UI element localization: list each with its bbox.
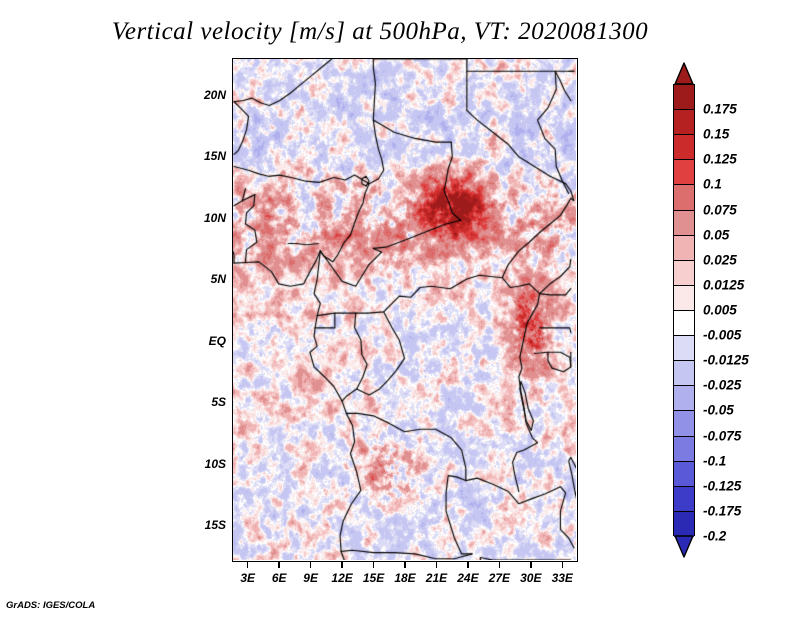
lat-tick-label: 5N	[211, 272, 226, 286]
colorbar-tick-label: 0.125	[703, 152, 737, 167]
colorbar-swatch	[674, 110, 694, 135]
lon-tick	[341, 562, 343, 568]
colorbar-swatch	[674, 336, 694, 361]
lon-tick-label: 15E	[363, 571, 384, 585]
colorbar-tick-label: 0.05	[703, 227, 729, 242]
colorbar-tick-label: -0.0125	[703, 353, 749, 368]
colorbar: 0.1750.150.1250.10.0750.050.0250.01250.0…	[673, 62, 695, 558]
lon-tick	[310, 562, 312, 568]
colorbar-swatch	[674, 462, 694, 487]
lon-tick-label: 27E	[489, 571, 510, 585]
colorbar-swatch	[674, 386, 694, 411]
colorbar-swatch	[674, 135, 694, 160]
lat-tick-label: 15N	[204, 149, 226, 163]
colorbar-tick-label: -0.005	[703, 328, 741, 343]
colorbar-swatch	[674, 85, 694, 110]
lon-tick-label: 21E	[426, 571, 447, 585]
lat-tick-label: 20N	[204, 88, 226, 102]
colorbar-swatch	[674, 437, 694, 462]
lon-tick-label: 24E	[457, 571, 478, 585]
lon-tick-label: 9E	[303, 571, 318, 585]
lon-tick	[278, 562, 280, 568]
grads-plot-page: Vertical velocity [m/s] at 500hPa, VT: 2…	[0, 0, 800, 618]
colorbar-swatch	[674, 236, 694, 261]
colorbar-swatch	[674, 185, 694, 210]
colorbar-tick-label: -0.05	[703, 403, 734, 418]
colorbar-tick-label: -0.1	[703, 453, 726, 468]
lon-tick-label: 3E	[240, 571, 255, 585]
colorbar-tick-label: -0.175	[703, 503, 741, 518]
colorbar-tick-label: 0.025	[703, 252, 737, 267]
longitude-axis: 3E6E9E12E15E18E21E24E27E30E33E	[232, 562, 578, 592]
colorbar-tick-label: -0.025	[703, 378, 741, 393]
latitude-axis: 20N15N10N5NEQ5S10S15S	[180, 58, 226, 562]
lon-tick	[247, 562, 249, 568]
lon-tick	[562, 562, 564, 568]
lat-tick-label: 5S	[211, 395, 226, 409]
colorbar-swatch	[674, 160, 694, 185]
colorbar-tick-label: -0.2	[703, 529, 726, 544]
colorbar-swatch	[674, 411, 694, 436]
lat-tick-label: 15S	[205, 518, 226, 532]
lon-tick	[404, 562, 406, 568]
lon-tick-label: 30E	[520, 571, 541, 585]
lon-tick-label: 33E	[552, 571, 573, 585]
lon-tick-label: 12E	[331, 571, 352, 585]
lat-tick-label: EQ	[209, 334, 226, 348]
map-plot-area	[232, 58, 578, 562]
colorbar-tick-label: 0.15	[703, 127, 729, 142]
colorbar-swatch	[674, 211, 694, 236]
lon-tick	[436, 562, 438, 568]
lon-tick-label: 6E	[272, 571, 287, 585]
lon-tick	[499, 562, 501, 568]
colorbar-tick-label: 0.005	[703, 303, 737, 318]
lon-tick	[530, 562, 532, 568]
colorbar-tick-label: 0.0125	[703, 277, 744, 292]
colorbar-bottom-arrow	[673, 535, 695, 557]
colorbar-swatch	[674, 361, 694, 386]
colorbar-tick-label: -0.125	[703, 478, 741, 493]
footer-credit: GrADS: IGES/COLA	[6, 600, 95, 611]
country-borders-overlay	[233, 59, 576, 560]
colorbar-top-arrow	[673, 62, 695, 84]
colorbar-tick-label: 0.075	[703, 202, 737, 217]
colorbar-swatch	[674, 261, 694, 286]
colorbar-swatch	[674, 487, 694, 512]
colorbar-swatch	[674, 286, 694, 311]
colorbar-tick-label: -0.075	[703, 428, 741, 443]
lon-tick	[373, 562, 375, 568]
lon-tick-label: 18E	[394, 571, 415, 585]
colorbar-tick-label: 0.1	[703, 177, 722, 192]
page-title: Vertical velocity [m/s] at 500hPa, VT: 2…	[0, 18, 760, 46]
colorbar-swatch	[674, 512, 694, 537]
colorbar-tick-label: 0.175	[703, 102, 737, 117]
lon-tick	[467, 562, 469, 568]
colorbar-swatch	[674, 311, 694, 336]
colorbar-swatches	[673, 84, 695, 536]
lat-tick-label: 10N	[204, 211, 226, 225]
lat-tick-label: 10S	[205, 457, 226, 471]
